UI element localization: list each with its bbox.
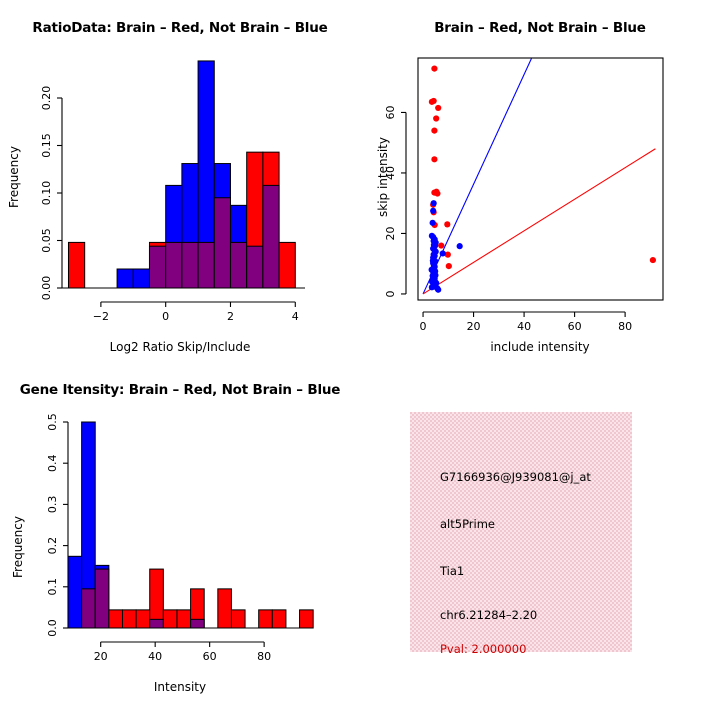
y-tick-label: 0.3 <box>46 496 59 514</box>
blue-line <box>423 58 532 294</box>
scatter-point <box>650 257 656 263</box>
y-tick-label: 0.1 <box>46 578 59 596</box>
gene-x-axis-title: Intensity <box>0 680 360 694</box>
x-tick-label: 40 <box>517 320 531 333</box>
y-tick-label: 0.15 <box>40 133 53 158</box>
scatter-point <box>431 128 437 134</box>
scatter-point <box>430 258 436 264</box>
histogram-bar <box>68 556 82 628</box>
histogram-bar <box>109 610 123 628</box>
panel-intensity-scatter: Brain – Red, Not Brain – Blue 0204060800… <box>360 0 720 360</box>
y-tick-label: 20 <box>384 226 397 240</box>
histogram-bar <box>279 242 295 288</box>
scatter-point <box>444 221 450 227</box>
scatter-point <box>433 115 439 121</box>
scatter-point <box>440 250 446 256</box>
scatter-point <box>435 287 441 293</box>
x-tick-label: 60 <box>568 320 582 333</box>
histogram-bar-overlap <box>214 198 230 288</box>
y-tick-label: 0.5 <box>46 413 59 431</box>
histogram-bar <box>163 610 177 628</box>
scatter-point <box>430 273 436 279</box>
scatter-y-axis-title: skip intensity <box>376 132 390 222</box>
info-locus: chr6.21284–2.20 <box>440 608 537 622</box>
histogram-bar-overlap <box>95 569 109 628</box>
panel-ratio-histogram: RatioData: Brain – Red, Not Brain – Blue… <box>0 0 360 360</box>
scatter-point <box>429 267 435 273</box>
plot-canvas: RatioData: Brain – Red, Not Brain – Blue… <box>0 0 720 720</box>
ratio-bars <box>68 61 295 288</box>
gene-info-box: G7166936@J939081@j_at alt5Prime Tia1 chr… <box>410 412 632 652</box>
histogram-bar <box>231 610 245 628</box>
scatter-point <box>435 105 441 111</box>
scatter-x-axis-title: include intensity <box>360 340 720 354</box>
histogram-bar <box>133 269 149 288</box>
ratio-histogram-graphic: 0.000.050.100.150.20−2024 <box>0 0 360 360</box>
scatter-point <box>446 263 452 269</box>
info-event-type: alt5Prime <box>440 517 495 531</box>
red-line <box>423 149 655 294</box>
y-tick-label: 0.10 <box>40 181 53 206</box>
histogram-bar <box>218 589 232 628</box>
scatter-point <box>434 190 440 196</box>
panel-gene-intensity-histogram: Gene Itensity: Brain – Red, Not Brain – … <box>0 360 360 720</box>
x-tick-label: 20 <box>467 320 481 333</box>
histogram-bar <box>300 610 314 628</box>
x-tick-label: −2 <box>93 310 109 323</box>
histogram-bar <box>272 610 286 628</box>
x-tick-label: 60 <box>203 650 217 663</box>
histogram-bar <box>122 610 136 628</box>
y-tick-label: 0.2 <box>46 537 59 555</box>
scatter-point <box>431 156 437 162</box>
scatter-point <box>438 242 444 248</box>
histogram-bar-overlap <box>230 242 246 288</box>
scatter-point <box>429 284 435 290</box>
histogram-bar <box>177 610 191 628</box>
gene-histogram-graphic: 0.00.10.20.30.40.520406080 <box>0 360 360 720</box>
y-tick-label: 60 <box>384 105 397 119</box>
x-tick-label: 0 <box>162 310 169 323</box>
y-tick-label: 0.4 <box>46 454 59 472</box>
y-tick-label: 0 <box>384 290 397 297</box>
scatter-point <box>431 65 437 71</box>
scatter-plot-frame <box>418 58 663 300</box>
scatter-graphic: 0204060800204060 <box>360 0 720 360</box>
x-tick-label: 4 <box>292 310 299 323</box>
histogram-bar <box>259 610 273 628</box>
y-tick-label: 0.05 <box>40 228 53 253</box>
x-tick-label: 40 <box>148 650 162 663</box>
info-pval: Pval: 2.000000 <box>440 642 526 656</box>
histogram-bar-overlap <box>191 619 205 628</box>
histogram-bar-overlap <box>263 185 279 288</box>
histogram-bar-overlap <box>198 242 214 288</box>
y-tick-label: 0.00 <box>40 276 53 301</box>
histogram-bar-overlap <box>149 246 165 288</box>
x-tick-label: 80 <box>618 320 632 333</box>
x-tick-label: 2 <box>227 310 234 323</box>
scatter-point <box>431 98 437 104</box>
gene-y-axis-title: Frequency <box>11 507 25 587</box>
scatter-point <box>430 208 436 214</box>
x-tick-label: 80 <box>257 650 271 663</box>
histogram-bar-overlap <box>182 242 198 288</box>
y-tick-label: 0.20 <box>40 86 53 111</box>
ratio-y-axis-title: Frequency <box>7 137 21 217</box>
x-tick-label: 20 <box>94 650 108 663</box>
ratio-x-axis-title: Log2 Ratio Skip/Include <box>0 340 360 354</box>
panel-gene-info: G7166936@J939081@j_at alt5Prime Tia1 chr… <box>360 360 720 720</box>
histogram-bar <box>117 269 133 288</box>
histogram-bar-overlap <box>82 589 96 628</box>
y-tick-label: 0.0 <box>46 619 59 637</box>
histogram-bar <box>136 610 150 628</box>
info-gene-symbol: Tia1 <box>440 564 464 578</box>
reference-lines <box>423 58 655 294</box>
scatter-points <box>429 65 656 292</box>
info-probe-id: G7166936@J939081@j_at <box>440 470 591 484</box>
scatter-point <box>430 220 436 226</box>
scatter-point <box>457 243 463 249</box>
scatter-point <box>429 279 435 285</box>
scatter-point <box>431 200 437 206</box>
gene-bars <box>68 422 313 628</box>
histogram-bar <box>68 242 84 288</box>
histogram-bar-overlap <box>150 619 164 628</box>
histogram-bar-overlap <box>247 246 263 288</box>
histogram-bar-overlap <box>166 242 182 288</box>
x-tick-label: 0 <box>420 320 427 333</box>
